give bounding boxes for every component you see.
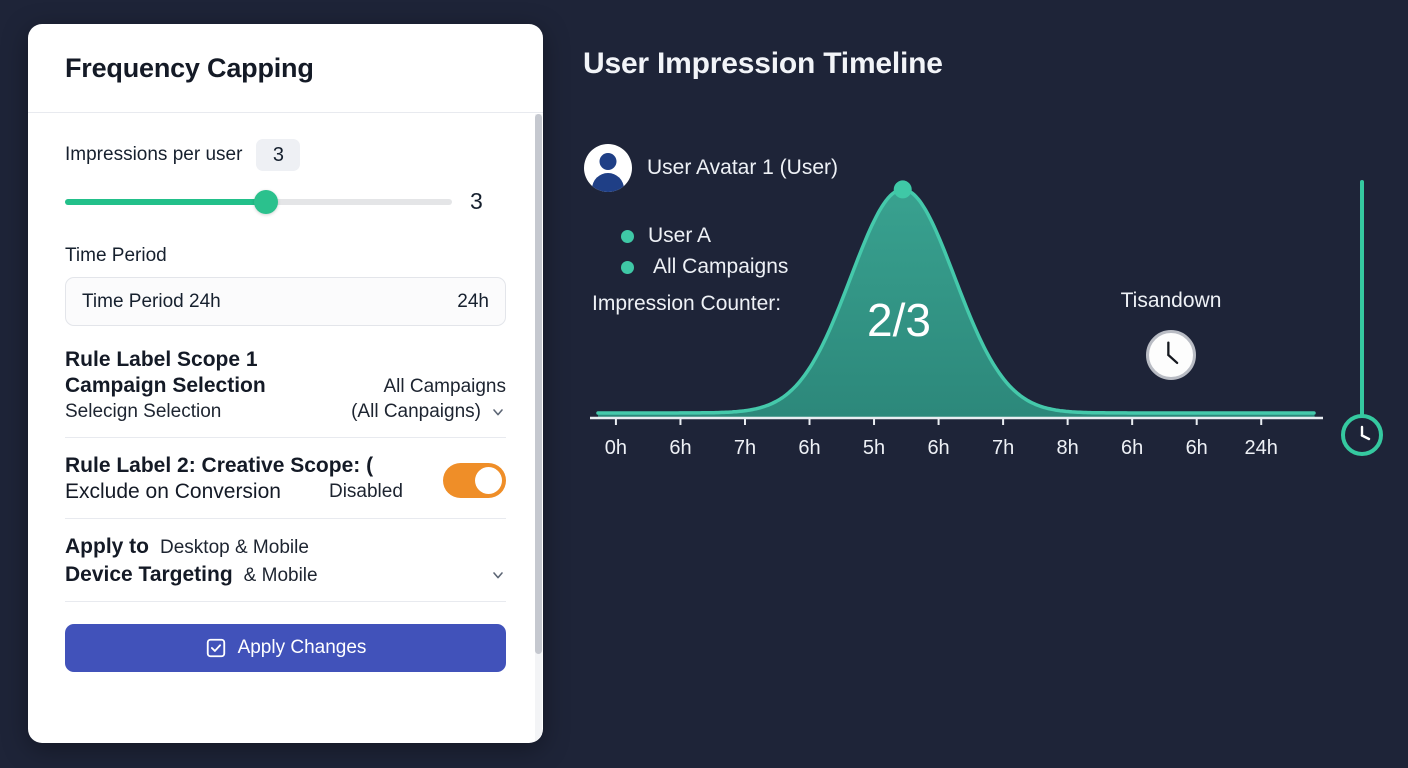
- time-period-field[interactable]: Time Period 24h 24h: [65, 277, 506, 326]
- device-targeting-dropdown[interactable]: Device Targeting & Mobile: [65, 563, 506, 587]
- card-body: Impressions per user 3 3 Time Period Tim…: [28, 139, 543, 672]
- device-targeting-value: & Mobile: [244, 565, 318, 587]
- exclude-on-conversion-state: Disabled: [329, 481, 403, 503]
- impressions-value-badge: 3: [256, 139, 300, 171]
- rule1-title: Rule Label Scope 1: [65, 348, 506, 372]
- impressions-slider-row: 3: [65, 188, 506, 215]
- divider-2: [65, 518, 506, 519]
- avatar-head-icon: [600, 153, 617, 170]
- clock-icon: [1345, 418, 1379, 452]
- axis-tick-label: 7h: [992, 437, 1014, 460]
- axis-tick-label: 8h: [1057, 437, 1079, 460]
- clock-icon: [1146, 330, 1196, 380]
- rule2-section: Rule Label 2: Creative Scope: ( Exclude …: [65, 454, 506, 504]
- rule2-title: Rule Label 2: Creative Scope: (: [65, 454, 506, 478]
- timeline-rail[interactable]: [1360, 180, 1364, 430]
- page-title: Frequency Capping: [65, 53, 314, 84]
- axis-tick-label: 24h: [1245, 437, 1278, 460]
- impressions-slider[interactable]: [65, 199, 452, 205]
- time-period-field-value: 24h: [457, 291, 489, 313]
- divider-1: [65, 437, 506, 438]
- clock-hands-icon: [1149, 333, 1193, 377]
- time-period-field-text: Time Period 24h: [82, 291, 221, 313]
- time-period-label: Time Period: [65, 245, 506, 267]
- slider-fill: [65, 199, 266, 205]
- axis-tick-label: 6h: [1121, 437, 1143, 460]
- impressions-per-user-label: Impressions per user: [65, 144, 242, 166]
- campaign-selection-row: Campaign Selection All Campaigns: [65, 374, 506, 398]
- campaign-selection-value: All Campaigns: [384, 376, 507, 398]
- axis-tick-label: 6h: [1186, 437, 1208, 460]
- card-header: Frequency Capping: [28, 24, 543, 113]
- chart-x-axis-labels: 0h6h7h6h5h6h7h8h6h6h24h: [583, 437, 1341, 463]
- campaign-selection-sub-wrap: (All Canpaigns): [351, 401, 506, 423]
- apply-changes-label: Apply Changes: [238, 637, 367, 659]
- app-root: Frequency Capping Impressions per user 3…: [0, 0, 1408, 768]
- tisandown-label: Tisandown: [1121, 289, 1222, 313]
- campaign-selection-sub-label: Selecign Selection: [65, 401, 221, 423]
- chevron-down-icon: [490, 404, 506, 420]
- divider-3: [65, 601, 506, 602]
- device-targeting-left: Device Targeting & Mobile: [65, 563, 318, 587]
- exclude-on-conversion-toggle[interactable]: [443, 463, 506, 498]
- device-targeting-label: Device Targeting: [65, 563, 233, 587]
- slider-value-text: 3: [470, 188, 483, 215]
- campaign-selection-label: Campaign Selection: [65, 374, 266, 398]
- exclude-on-conversion-label: Exclude on Conversion: [65, 480, 281, 504]
- axis-tick-label: 6h: [798, 437, 820, 460]
- toggle-knob: [475, 467, 502, 494]
- axis-tick-label: 5h: [863, 437, 885, 460]
- rule2-row: Exclude on Conversion Disabled: [65, 480, 506, 504]
- axis-tick-label: 6h: [927, 437, 949, 460]
- axis-tick-label: 0h: [605, 437, 627, 460]
- axis-tick-label: 6h: [669, 437, 691, 460]
- axis-tick-label: 7h: [734, 437, 756, 460]
- campaign-selection-dropdown[interactable]: Selecign Selection (All Canpaigns): [65, 401, 506, 423]
- timeline-title: User Impression Timeline: [583, 47, 943, 81]
- checkbox-check-icon: [205, 637, 227, 659]
- campaign-selection-sub-value: (All Canpaigns): [351, 401, 481, 423]
- frequency-capping-card: Frequency Capping Impressions per user 3…: [28, 24, 543, 743]
- apply-to-row: Apply to Desktop & Mobile: [65, 535, 506, 559]
- apply-changes-button[interactable]: Apply Changes: [65, 624, 506, 672]
- apply-to-label: Apply to: [65, 535, 149, 559]
- impressions-per-user-row: Impressions per user 3: [65, 139, 506, 171]
- impression-counter-value: 2/3: [867, 293, 931, 347]
- timeline-rail-clock-knob[interactable]: [1341, 414, 1383, 456]
- chevron-down-icon: [490, 567, 506, 583]
- timeline-panel: User Impression Timeline User Avatar 1 (…: [583, 0, 1408, 768]
- apply-to-value: Desktop & Mobile: [160, 537, 309, 559]
- slider-thumb[interactable]: [254, 190, 278, 214]
